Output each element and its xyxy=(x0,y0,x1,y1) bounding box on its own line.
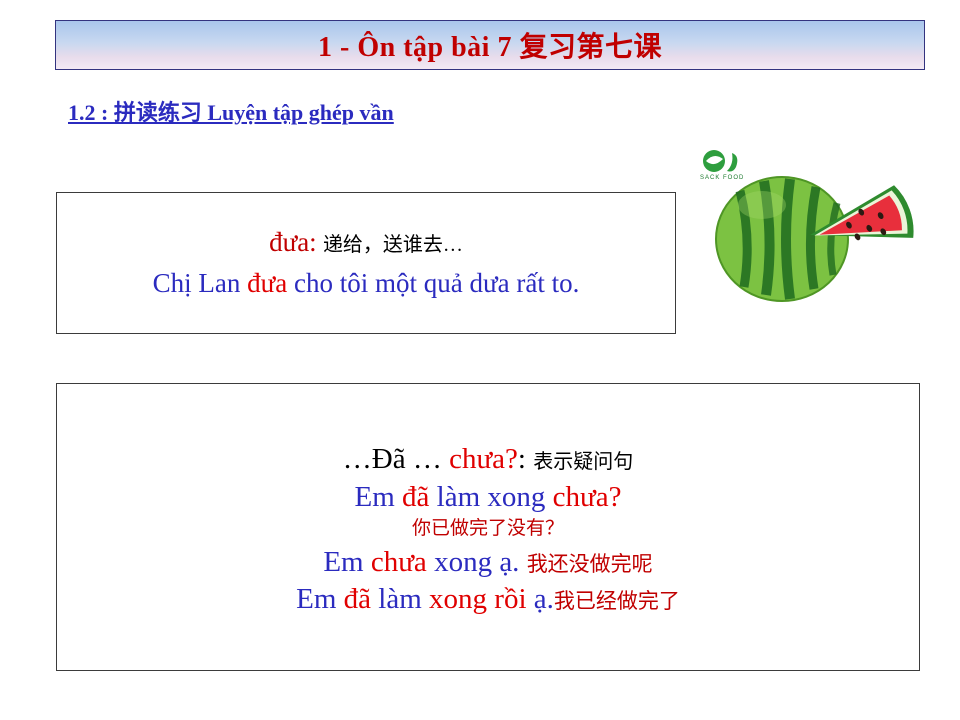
example-post: cho tôi một quả dưa rất to. xyxy=(287,268,579,298)
answer-neg-kw: chưa xyxy=(371,546,427,578)
watermelon-photo: SACK FOOD xyxy=(692,143,920,333)
answer-aff-b: làm xyxy=(371,583,429,615)
pattern-gloss: 表示疑问句 xyxy=(533,451,633,473)
pattern-colon: : xyxy=(518,443,526,475)
example-question-kw2: chưa? xyxy=(553,481,622,513)
headword-line: đưa: 递给，送谁去… xyxy=(269,227,463,258)
slide-subtitle: 1.2 : 拼读练习 Luyện tập ghép vần xyxy=(68,95,394,127)
pattern-line: …Đã … chưa?: 表示疑问句 xyxy=(343,443,633,476)
example-question-a: Em xyxy=(355,481,403,513)
example-question-kw1: đã xyxy=(402,481,429,513)
answer-neg-translation: 我还没做完呢 xyxy=(527,552,653,576)
grammar-box-da-chua: …Đã … chưa?: 表示疑问句 Em đã làm xong chưa? … xyxy=(56,383,920,671)
page-title: 1 - Ôn tập bài 7 复习第七课 xyxy=(318,25,662,65)
pattern-keyword: chưa? xyxy=(449,443,518,475)
example-answer-negative: Em chưa xong ạ. 我还没做完呢 xyxy=(323,546,652,579)
example-sentence: Chị Lan đưa cho tôi một quả dưa rất to. xyxy=(153,268,580,299)
example-keyword: đưa xyxy=(247,268,287,298)
slide-title-banner: 1 - Ôn tập bài 7 复习第七课 xyxy=(55,20,925,70)
example-pre: Chị Lan xyxy=(153,268,248,298)
vocabulary-box-dua: đưa: 递给，送谁去… Chị Lan đưa cho tôi một quả… xyxy=(56,192,676,334)
answer-aff-kw1: đã xyxy=(344,583,371,615)
headword-text: đưa: xyxy=(269,227,317,257)
example-answer-affirmative: Em đã làm xong rồi ạ.我已经做完了 xyxy=(296,583,680,616)
answer-aff-kw2: xong rồi xyxy=(429,583,526,615)
example-question: Em đã làm xong chưa? xyxy=(355,481,622,514)
pattern-prefix: …Đã … xyxy=(343,443,449,475)
example-question-translation: 你已做完了没有？ xyxy=(412,518,564,540)
answer-neg-b: xong ạ. xyxy=(427,546,520,578)
headword-gloss: 递给，送谁去… xyxy=(323,234,463,256)
svg-text:SACK FOOD: SACK FOOD xyxy=(700,175,744,181)
answer-aff-c: ạ. xyxy=(527,583,554,615)
example-question-b: làm xong xyxy=(429,481,552,513)
watermelon-illustration: SACK FOOD xyxy=(692,143,920,333)
answer-aff-translation: 我已经做完了 xyxy=(554,589,680,613)
answer-aff-a: Em xyxy=(296,583,344,615)
answer-neg-a: Em xyxy=(323,546,371,578)
